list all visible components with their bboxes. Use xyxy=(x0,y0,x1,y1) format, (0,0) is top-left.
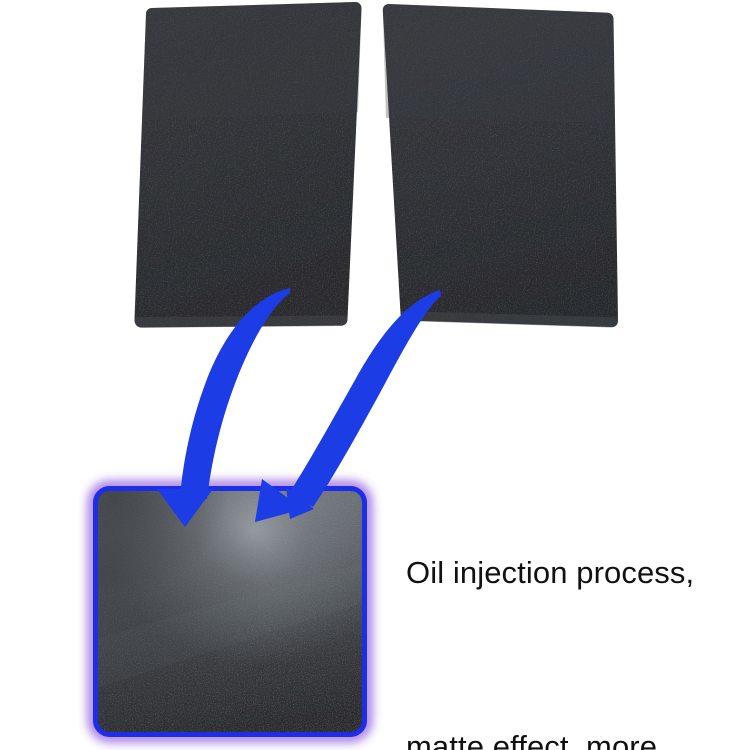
macro-surface xyxy=(90,484,372,742)
left-back-panel xyxy=(134,2,361,328)
right-back-panel xyxy=(383,4,618,328)
caption-text: Oil injection process, matte effect, mor… xyxy=(406,428,746,750)
macro-zoom-square xyxy=(90,484,372,742)
caption-line-2: matte effect, more xyxy=(406,718,746,750)
caption-line-1: Oil injection process, xyxy=(406,544,746,602)
product-detail-image: Oil injection process, matte effect, mor… xyxy=(0,0,750,750)
